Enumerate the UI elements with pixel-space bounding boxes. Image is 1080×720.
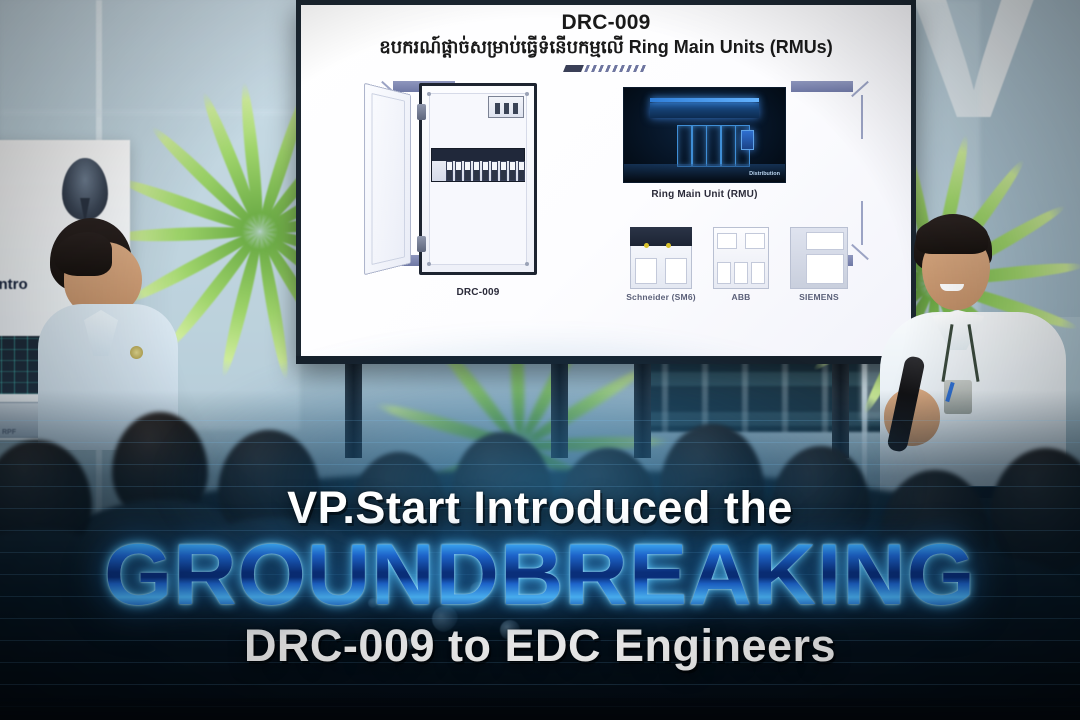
poster-canvas: V xyxy=(0,0,1080,720)
vignette-overlay xyxy=(0,0,1080,720)
bottom-edge-bar xyxy=(0,698,1080,720)
